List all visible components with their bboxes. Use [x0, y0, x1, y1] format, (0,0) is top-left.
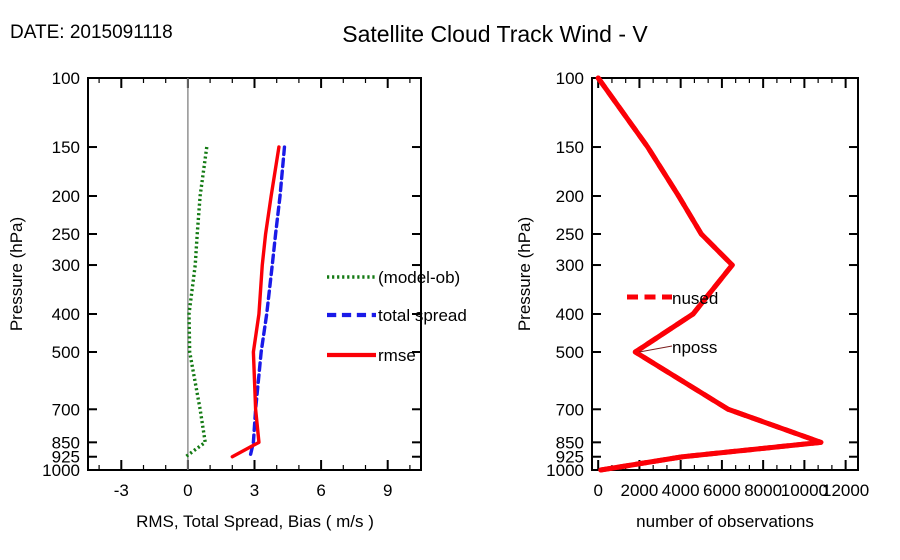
series-line: [232, 147, 279, 457]
y-tick-label: 250: [556, 225, 584, 244]
y-tick-label: 700: [556, 400, 584, 419]
x-tick-label: 0: [593, 481, 602, 500]
legend-label: total spread: [378, 306, 467, 325]
x-tick-label: 6: [316, 481, 325, 500]
x-tick-label: -3: [114, 481, 129, 500]
y-tick-label: 1000: [546, 461, 584, 480]
y-tick-label: 250: [52, 225, 80, 244]
legend-label: (model-ob): [378, 268, 460, 287]
y-tick-label: 200: [556, 187, 584, 206]
y-tick-label: 500: [556, 343, 584, 362]
y-tick-label: 400: [52, 305, 80, 324]
y-tick-label: 1000: [42, 461, 80, 480]
y-axis-title: Pressure (hPa): [515, 217, 534, 331]
x-axis-title: number of observations: [636, 512, 814, 531]
x-tick-label: 0: [183, 481, 192, 500]
profile-plot-figure: DATE: 2015091118 Satellite Cloud Track W…: [0, 0, 900, 560]
y-tick-label: 400: [556, 305, 584, 324]
y-tick-label: 150: [556, 138, 584, 157]
y-tick-label: 500: [52, 343, 80, 362]
annotation-label-nused: nused: [672, 289, 718, 308]
x-tick-label: 12000: [822, 481, 869, 500]
series-line: [598, 78, 821, 470]
y-tick-label: 300: [556, 256, 584, 275]
right-panel-counts: 1001502002503004005007008509251000020004…: [515, 69, 869, 531]
chart-page: DATE: 2015091118 Satellite Cloud Track W…: [0, 0, 900, 560]
x-tick-label: 4000: [662, 481, 700, 500]
x-tick-label: 6000: [703, 481, 741, 500]
x-tick-label: 3: [250, 481, 259, 500]
page-title: Satellite Cloud Track Wind - V: [342, 21, 648, 47]
series-line: [598, 78, 821, 470]
y-tick-label: 100: [52, 69, 80, 88]
annotation-label-nposs: nposs: [672, 338, 717, 357]
y-tick-label: 100: [556, 69, 584, 88]
x-tick-label: 9: [383, 481, 392, 500]
x-tick-label: 10000: [781, 481, 828, 500]
y-tick-label: 150: [52, 138, 80, 157]
y-tick-label: 200: [52, 187, 80, 206]
x-tick-label: 2000: [621, 481, 659, 500]
left-panel-profile: 1001502002503004005007008509251000-30369…: [7, 69, 467, 531]
x-axis-title: RMS, Total Spread, Bias ( m/s ): [136, 512, 374, 531]
x-tick-label: 8000: [744, 481, 782, 500]
date-label: DATE: 2015091118: [10, 22, 173, 43]
y-tick-label: 300: [52, 256, 80, 275]
series-line: [186, 147, 207, 457]
y-axis-title: Pressure (hPa): [7, 217, 26, 331]
y-tick-label: 700: [52, 400, 80, 419]
legend-label: rmse: [378, 346, 416, 365]
